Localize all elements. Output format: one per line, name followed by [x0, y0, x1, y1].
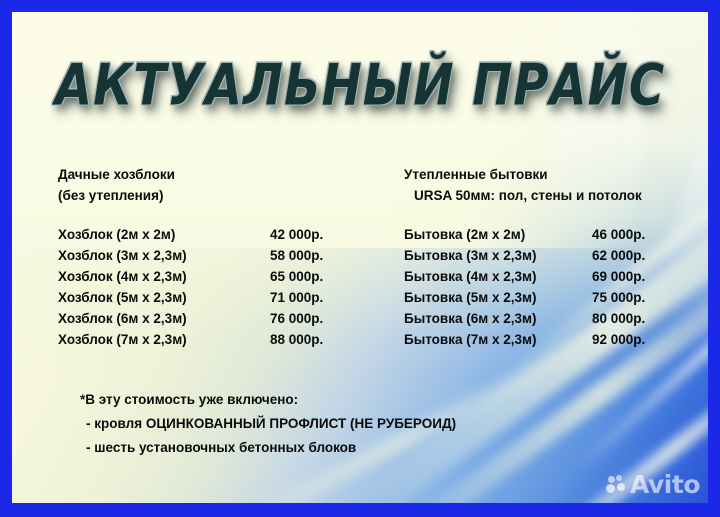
price-value: 75 000р. [592, 287, 704, 308]
left-price-list: Хозблок (2м х 2м) 42 000р. Хозблок (3м х… [58, 224, 388, 350]
price-row: Хозблок (7м х 2,3м) 88 000р. [58, 329, 388, 350]
left-heading-line-1: Дачные хозблоки [58, 164, 388, 185]
right-heading-line-1: Утепленные бытовки [404, 164, 704, 185]
price-value: 69 000р. [592, 266, 704, 287]
poster-canvas: АКТУАЛЬНЫЙ ПРАЙС Дачные хозблоки (без ут… [12, 12, 708, 503]
price-row: Бытовка (5м х 2,3м) 75 000р. [404, 287, 704, 308]
price-value: 80 000р. [592, 308, 704, 329]
price-row: Хозблок (2м х 2м) 42 000р. [58, 224, 388, 245]
price-value: 65 000р. [270, 266, 388, 287]
price-value: 76 000р. [270, 308, 388, 329]
price-name: Хозблок (5м х 2,3м) [58, 287, 187, 308]
price-name: Бытовка (3м х 2,3м) [404, 245, 536, 266]
avito-watermark: Avito [606, 472, 700, 497]
price-name: Хозблок (7м х 2,3м) [58, 329, 187, 350]
price-name: Бытовка (7м х 2,3м) [404, 329, 536, 350]
column-insulated: Утепленные бытовки URSA 50мм: пол, стены… [404, 164, 704, 350]
price-name: Хозблок (4м х 2,3м) [58, 266, 187, 287]
price-value: 88 000р. [270, 329, 388, 350]
avito-wordmark: Avito [630, 472, 700, 497]
left-heading-line-2: (без утепления) [58, 185, 388, 206]
price-name: Бытовка (6м х 2,3м) [404, 308, 536, 329]
price-name: Бытовка (5м х 2,3м) [404, 287, 536, 308]
price-row: Бытовка (2м х 2м) 46 000р. [404, 224, 704, 245]
price-row: Хозблок (3м х 2,3м) 58 000р. [58, 245, 388, 266]
price-row: Хозблок (4м х 2,3м) 65 000р. [58, 266, 388, 287]
included-notes: *В эту стоимость уже включено: - кровля … [80, 388, 456, 460]
price-row: Бытовка (4м х 2,3м) 69 000р. [404, 266, 704, 287]
price-row: Хозблок (6м х 2,3м) 76 000р. [58, 308, 388, 329]
column-uninsulated: Дачные хозблоки (без утепления) Хозблок … [58, 164, 388, 350]
right-heading-line-2: URSA 50мм: пол, стены и потолок [404, 185, 704, 206]
price-row: Бытовка (3м х 2,3м) 62 000р. [404, 245, 704, 266]
price-value: 62 000р. [592, 245, 704, 266]
price-value: 92 000р. [592, 329, 704, 350]
price-row: Бытовка (6м х 2,3м) 80 000р. [404, 308, 704, 329]
price-value: 58 000р. [270, 245, 388, 266]
price-name: Хозблок (6м х 2,3м) [58, 308, 187, 329]
price-name: Хозблок (2м х 2м) [58, 224, 175, 245]
note-line-3: - шесть установочных бетонных блоков [80, 436, 456, 460]
price-name: Бытовка (4м х 2,3м) [404, 266, 536, 287]
price-poster: АКТУАЛЬНЫЙ ПРАЙС Дачные хозблоки (без ут… [0, 0, 720, 517]
price-value: 71 000р. [270, 287, 388, 308]
right-price-list: Бытовка (2м х 2м) 46 000р. Бытовка (3м х… [404, 224, 704, 350]
avito-dots-icon [606, 475, 626, 495]
price-row: Хозблок (5м х 2,3м) 71 000р. [58, 287, 388, 308]
price-value: 42 000р. [270, 224, 388, 245]
note-line-1: *В эту стоимость уже включено: [80, 388, 456, 412]
price-row: Бытовка (7м х 2,3м) 92 000р. [404, 329, 704, 350]
note-line-2: - кровля ОЦИНКОВАННЫЙ ПРОФЛИСТ (НЕ РУБЕР… [80, 412, 456, 436]
price-name: Хозблок (3м х 2,3м) [58, 245, 187, 266]
price-value: 46 000р. [592, 224, 704, 245]
price-name: Бытовка (2м х 2м) [404, 224, 525, 245]
